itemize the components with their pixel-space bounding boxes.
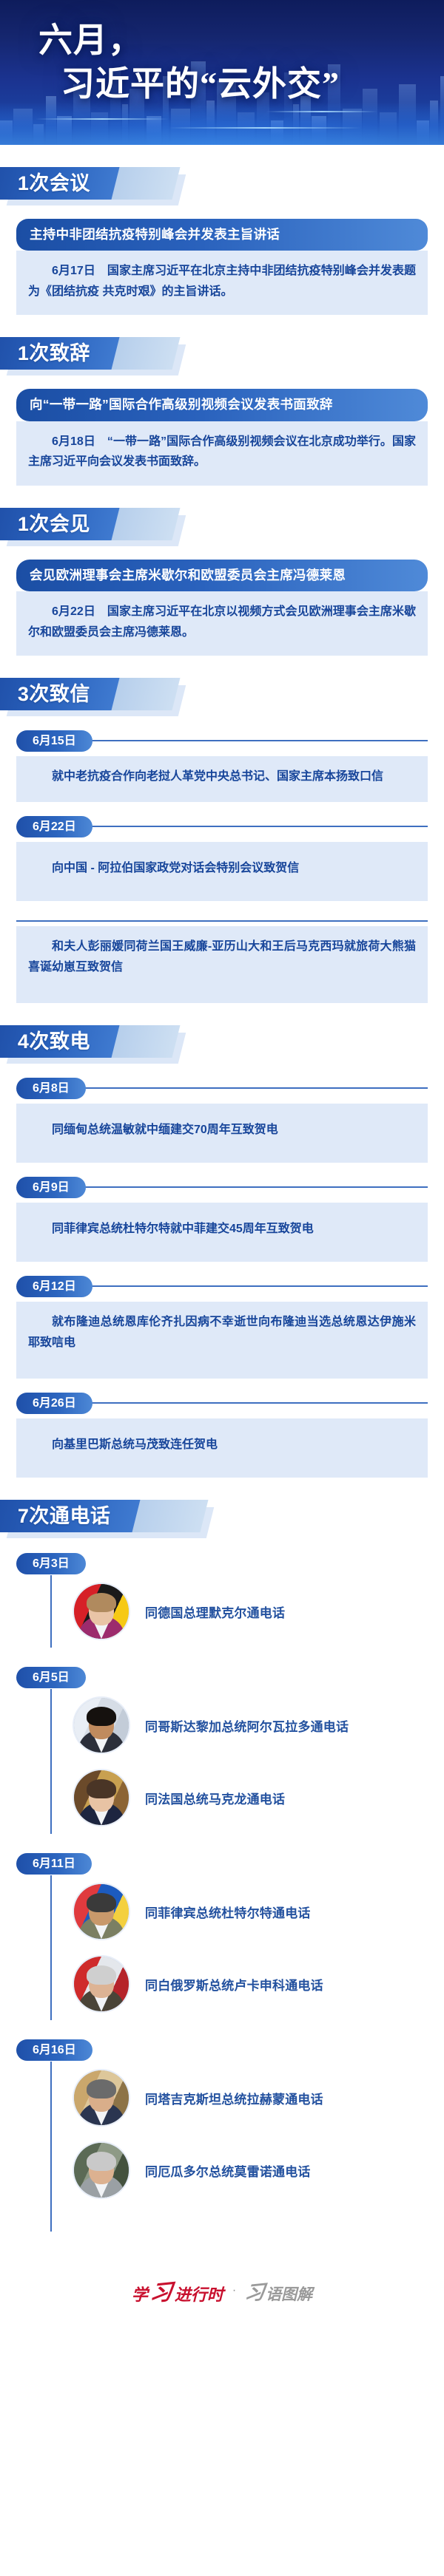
heading-banner: 4次致电	[0, 1025, 120, 1058]
page-title-line-1: 六月，	[38, 21, 143, 59]
entry-body: 同缅甸总统温敏就中缅建交70周年互致贺电	[16, 1104, 428, 1163]
logo-secondary-suffix: 语图解	[266, 2283, 312, 2305]
hero-banner: 六月， 习近平的“云外交”	[0, 0, 444, 145]
card-title-pill: 会见欧洲理事会主席米歇尔和欧盟委员会主席冯德莱恩	[16, 560, 428, 591]
card-body: 6月22日 国家主席习近平在北京以视频方式会见欧洲理事会主席米歇尔和欧盟委员会主…	[16, 591, 428, 656]
entry-body: 同菲律宾总统杜特尔特就中菲建交45周年互致贺电	[16, 1203, 428, 1262]
entry-body: 向基里巴斯总统马茂致连任贺电	[16, 1418, 428, 1478]
date-row: 6月15日	[16, 730, 428, 752]
alvarado-avatar	[74, 1698, 129, 1753]
card-body: 6月17日 国家主席习近平在北京主持中非团结抗疫特别峰会并发表题为《团结抗疫 共…	[16, 251, 428, 315]
logo-primary-mark: 习	[148, 2274, 174, 2308]
call-group: 6月11日 同菲律宾总统杜特尔特通电话 同白俄罗斯总统卢卡申科通电话	[16, 1852, 428, 2020]
section-heading-label: 1次会议	[18, 174, 90, 194]
card-title-pill: 主持中非团结抗疫特别峰会并发表主旨讲话	[16, 219, 428, 251]
light-streak-icon	[266, 111, 377, 112]
section-heading-meeting: 1次会议	[0, 167, 444, 205]
hero-glow-decoration	[0, 102, 444, 145]
date-rule-decoration	[85, 740, 428, 741]
section-heading-telegrams: 4次致电	[0, 1025, 444, 1064]
section-heading-talks: 1次会见	[0, 508, 444, 546]
card-address: 向“一带一路”国际合作高级别视频会议发表书面致辞 6月18日 “一带一路”国际合…	[16, 389, 428, 485]
call-label: 同塔吉克斯坦总统拉赫蒙通电话	[145, 2089, 323, 2107]
section-talks: 1次会见 会见欧洲理事会主席米歇尔和欧盟委员会主席冯德莱恩 6月22日 国家主席…	[0, 508, 444, 656]
avatar-hair	[87, 2152, 116, 2171]
footer-logo: 学 习 进行时 · 习 语图解	[0, 2258, 444, 2329]
page-title-line-2: 习近平的“云外交”	[38, 63, 340, 106]
rahmon-avatar	[74, 2070, 129, 2125]
xuexi-jinxingshi-logo: 学 习 进行时	[132, 2274, 223, 2307]
section-phone-calls: 7次通电话 6月3日 同德国总理默克尔通电话 6月5日	[0, 1500, 444, 2232]
timeline-line: 同德国总理默克尔通电话	[50, 1575, 428, 1648]
call-item: 同法国总统马克龙通电话	[52, 1761, 428, 1834]
letter-entry: 6月15日 就中老抗疫合作向老挝人革党中央总书记、国家主席本扬致口信	[16, 730, 428, 802]
logo-secondary-mark: 习	[243, 2275, 267, 2306]
date-row: 6月22日	[16, 815, 428, 837]
call-item: 同白俄罗斯总统卢卡申科通电话	[52, 1948, 428, 2020]
telegram-entry: 6月8日 同缅甸总统温敏就中缅建交70周年互致贺电	[16, 1077, 428, 1163]
date-badge: 6月9日	[16, 1177, 86, 1198]
entry-text: 就中老抗疫合作向老挝人革党中央总书记、国家主席本扬致口信	[28, 767, 416, 787]
entry-text: 同缅甸总统温敏就中缅建交70周年互致贺电	[28, 1120, 416, 1141]
call-item: 同塔吉克斯坦总统拉赫蒙通电话	[52, 2062, 428, 2134]
avatar-hair	[87, 1593, 116, 1612]
timeline-line: 同菲律宾总统杜特尔特通电话 同白俄罗斯总统卢卡申科通电话	[50, 1875, 428, 2020]
entry-text: 和夫人彭丽媛同荷兰国王威廉-亚历山大和王后马克西玛就旅荷大熊猫喜诞幼崽互致贺信	[28, 937, 416, 978]
duterte-avatar	[74, 1884, 129, 1939]
entry-body: 就布隆迪总统恩库伦齐扎因病不幸逝世向布隆迪当选总统恩达伊施米耶致唁电	[16, 1302, 428, 1379]
entry-text: 向基里巴斯总统马茂致连任贺电	[28, 1435, 416, 1455]
date-badge: 6月11日	[16, 1853, 92, 1875]
date-row: 6月9日	[16, 1176, 428, 1198]
avatar-hair	[87, 1707, 116, 1726]
telegram-entry: 6月26日 向基里巴斯总统马茂致连任贺电	[16, 1392, 428, 1478]
merkel-avatar	[74, 1584, 129, 1639]
date-rule-decoration	[85, 826, 428, 827]
heading-banner: 3次致信	[0, 678, 120, 710]
date-badge: 6月8日	[16, 1078, 86, 1099]
timeline-line: 同塔吉克斯坦总统拉赫蒙通电话 同厄瓜多尔总统莫雷诺通电话	[50, 2062, 428, 2232]
section-heading-label: 7次通电话	[18, 1506, 111, 1526]
logo-separator: ·	[231, 2284, 238, 2297]
call-label: 同菲律宾总统杜特尔特通电话	[145, 1903, 311, 1921]
card-title-pill: 向“一带一路”国际合作高级别视频会议发表书面致辞	[16, 389, 428, 421]
page-title: 六月， 习近平的“云外交”	[38, 19, 340, 106]
heading-banner: 1次会议	[0, 167, 120, 200]
telegram-entry: 6月9日 同菲律宾总统杜特尔特就中菲建交45周年互致贺电	[16, 1176, 428, 1262]
call-item: 同厄瓜多尔总统莫雷诺通电话	[52, 2134, 428, 2206]
card-talks: 会见欧洲理事会主席米歇尔和欧盟委员会主席冯德莱恩 6月22日 国家主席习近平在北…	[16, 560, 428, 656]
heading-banner: 1次会见	[0, 508, 120, 540]
date-badge: 6月16日	[16, 2039, 92, 2061]
date-badge: 6月22日	[16, 816, 92, 837]
infographic-page: 六月， 习近平的“云外交” 1次会议 主持中非团结抗疫特别峰会并发表主旨讲话 6…	[0, 0, 444, 2576]
logo-primary-suffix: 进行时	[175, 2282, 223, 2305]
call-label: 同哥斯达黎加总统阿尔瓦拉多通电话	[145, 1716, 349, 1735]
date-row: 6月11日	[16, 1852, 428, 1875]
light-streak-icon	[169, 127, 361, 129]
avatar-hair	[87, 2079, 116, 2098]
call-group: 6月3日 同德国总理默克尔通电话	[16, 1552, 428, 1648]
call-item: 同哥斯达黎加总统阿尔瓦拉多通电话	[52, 1689, 428, 1761]
call-group: 6月16日 同塔吉克斯坦总统拉赫蒙通电话 同厄瓜多尔总统莫雷诺通电话	[16, 2038, 428, 2232]
section-heading-phone-calls: 7次通电话	[0, 1500, 444, 1538]
macron-avatar	[74, 1770, 129, 1825]
xiyu-tujie-logo: 习 语图解	[245, 2277, 312, 2305]
entry-top-rule-decoration	[16, 920, 428, 922]
telegram-entry: 6月12日 就布隆迪总统恩库伦齐扎因病不幸逝世向布隆迪当选总统恩达伊施米耶致唁电	[16, 1275, 428, 1379]
entry-text: 同菲律宾总统杜特尔特就中菲建交45周年互致贺电	[28, 1219, 416, 1240]
date-row: 6月3日	[16, 1552, 428, 1575]
card-body-text: 6月22日 国家主席习近平在北京以视频方式会见欧洲理事会主席米歇尔和欧盟委员会主…	[28, 602, 416, 642]
card-meeting: 主持中非团结抗疫特别峰会并发表主旨讲话 6月17日 国家主席习近平在北京主持中非…	[16, 219, 428, 315]
date-row: 6月12日	[16, 1275, 428, 1297]
entry-text: 向中国 - 阿拉伯国家政党对话会特别会议致贺信	[28, 858, 416, 879]
logo-primary-prefix: 学	[132, 2282, 148, 2305]
section-meeting: 1次会议 主持中非团结抗疫特别峰会并发表主旨讲话 6月17日 国家主席习近平在北…	[0, 167, 444, 315]
heading-banner: 1次致辞	[0, 337, 120, 370]
letter-entry: 6月22日 向中国 - 阿拉伯国家政党对话会特别会议致贺信	[16, 815, 428, 901]
date-row: 6月5日	[16, 1665, 428, 1689]
moreno-avatar	[74, 2143, 129, 2198]
phone-call-timeline: 6月3日 同德国总理默克尔通电话 6月5日 同哥斯达黎加总统阿	[16, 1552, 428, 2232]
avatar-hair	[87, 1893, 116, 1912]
avatar-hair	[87, 1965, 116, 1985]
light-streak-icon	[36, 118, 169, 120]
call-item: 同菲律宾总统杜特尔特通电话	[52, 1875, 428, 1948]
section-telegrams: 4次致电 6月8日 同缅甸总统温敏就中缅建交70周年互致贺电 6月9日 同菲律宾…	[0, 1025, 444, 1478]
date-row: 6月8日	[16, 1077, 428, 1099]
letter-entry: 和夫人彭丽媛同荷兰国王威廉-亚历山大和王后马克西玛就旅荷大熊猫喜诞幼崽互致贺信	[16, 920, 428, 1003]
date-badge: 6月5日	[16, 1667, 86, 1688]
section-heading-label: 1次会见	[18, 514, 90, 534]
call-label: 同法国总统马克龙通电话	[145, 1789, 285, 1807]
date-row: 6月26日	[16, 1392, 428, 1414]
section-heading-address: 1次致辞	[0, 337, 444, 375]
date-badge: 6月12日	[16, 1276, 92, 1297]
date-badge: 6月3日	[16, 1553, 86, 1574]
date-rule-decoration	[85, 1402, 428, 1404]
avatar-hair	[87, 1779, 116, 1798]
lukashenko-avatar	[74, 1957, 129, 2011]
date-badge: 6月26日	[16, 1393, 92, 1414]
card-body-text: 6月17日 国家主席习近平在北京主持中非团结抗疫特别峰会并发表题为《团结抗疫 共…	[28, 261, 416, 302]
entry-body: 就中老抗疫合作向老挝人革党中央总书记、国家主席本扬致口信	[16, 756, 428, 802]
call-label: 同白俄罗斯总统卢卡申科通电话	[145, 1975, 323, 1994]
date-badge: 6月15日	[16, 730, 92, 752]
date-row: 6月16日	[16, 2038, 428, 2062]
call-group: 6月5日 同哥斯达黎加总统阿尔瓦拉多通电话 同法国总统马克龙通电话	[16, 1665, 428, 1834]
timeline-line: 同哥斯达黎加总统阿尔瓦拉多通电话 同法国总统马克龙通电话	[50, 1689, 428, 1834]
date-rule-decoration	[78, 1087, 428, 1089]
card-body-text: 6月18日 “一带一路”国际合作高级别视频会议在北京成功举行。国家主席习近平向会…	[28, 432, 416, 472]
entry-body: 向中国 - 阿拉伯国家政党对话会特别会议致贺信	[16, 842, 428, 901]
section-heading-label: 1次致辞	[18, 344, 90, 364]
section-letters: 3次致信 6月15日 就中老抗疫合作向老挝人革党中央总书记、国家主席本扬致口信 …	[0, 678, 444, 1003]
call-label: 同德国总理默克尔通电话	[145, 1603, 285, 1621]
entry-body: 和夫人彭丽媛同荷兰国王威廉-亚历山大和王后马克西玛就旅荷大熊猫喜诞幼崽互致贺信	[16, 926, 428, 1003]
date-rule-decoration	[78, 1186, 428, 1188]
call-item: 同德国总理默克尔通电话	[52, 1575, 428, 1648]
section-heading-label: 3次致信	[18, 684, 90, 704]
entry-text: 就布隆迪总统恩库伦齐扎因病不幸逝世向布隆迪当选总统恩达伊施米耶致唁电	[28, 1312, 416, 1353]
card-body: 6月18日 “一带一路”国际合作高级别视频会议在北京成功举行。国家主席习近平向会…	[16, 421, 428, 486]
heading-banner: 7次通电话	[0, 1500, 140, 1532]
date-rule-decoration	[85, 1285, 428, 1287]
section-heading-letters: 3次致信	[0, 678, 444, 716]
section-address: 1次致辞 向“一带一路”国际合作高级别视频会议发表书面致辞 6月18日 “一带一…	[0, 337, 444, 485]
section-heading-label: 4次致电	[18, 1032, 90, 1052]
call-label: 同厄瓜多尔总统莫雷诺通电话	[145, 2161, 311, 2180]
